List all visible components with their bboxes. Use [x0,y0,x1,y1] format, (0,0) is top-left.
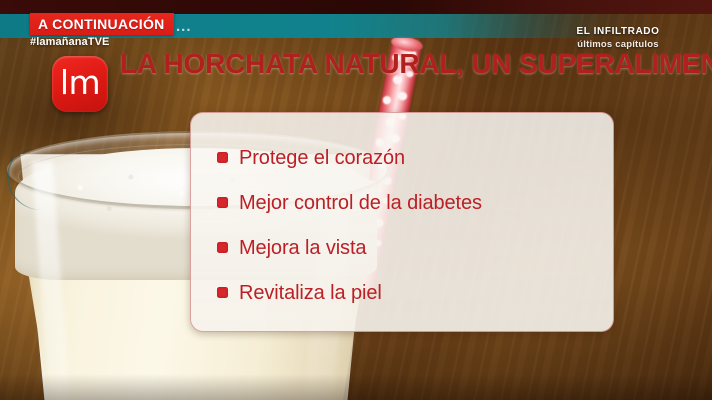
program-hashtag: #lamañanaTVE [30,36,109,48]
bullet-square-icon [217,197,228,208]
bullet-square-icon [217,152,228,163]
list-item: Protege el corazón [217,135,613,180]
list-item-label: Mejora la vista [239,238,366,258]
coming-up-banner: A CONTINUACIÓN [30,13,174,35]
la-manana-logo: lm [52,56,108,112]
page-title: LA HORCHATA NATURAL, UN SUPERALIMENTO [120,50,712,78]
list-item: Revitaliza la piel [217,270,613,315]
tv-broadcast-screen: A CONTINUACIÓN ... #lamañanaTVE lm EL IN… [0,0,712,400]
list-item-label: Protege el corazón [239,148,405,168]
benefits-panel: Protege el corazón Mejor control de la d… [190,112,614,332]
list-item-label: Mejor control de la diabetes [239,193,482,213]
bullet-square-icon [217,287,228,298]
list-item-label: Revitaliza la piel [239,283,382,303]
list-item: Mejora la vista [217,225,613,270]
coming-up-ellipsis: ... [176,19,192,34]
promo-title: EL INFILTRADO [538,26,698,39]
coming-up-label: A CONTINUACIÓN [38,17,165,31]
list-item: Mejor control de la diabetes [217,180,613,225]
top-dark-strip [0,0,712,14]
la-manana-logo-text: lm [60,66,100,99]
bullet-square-icon [217,242,228,253]
